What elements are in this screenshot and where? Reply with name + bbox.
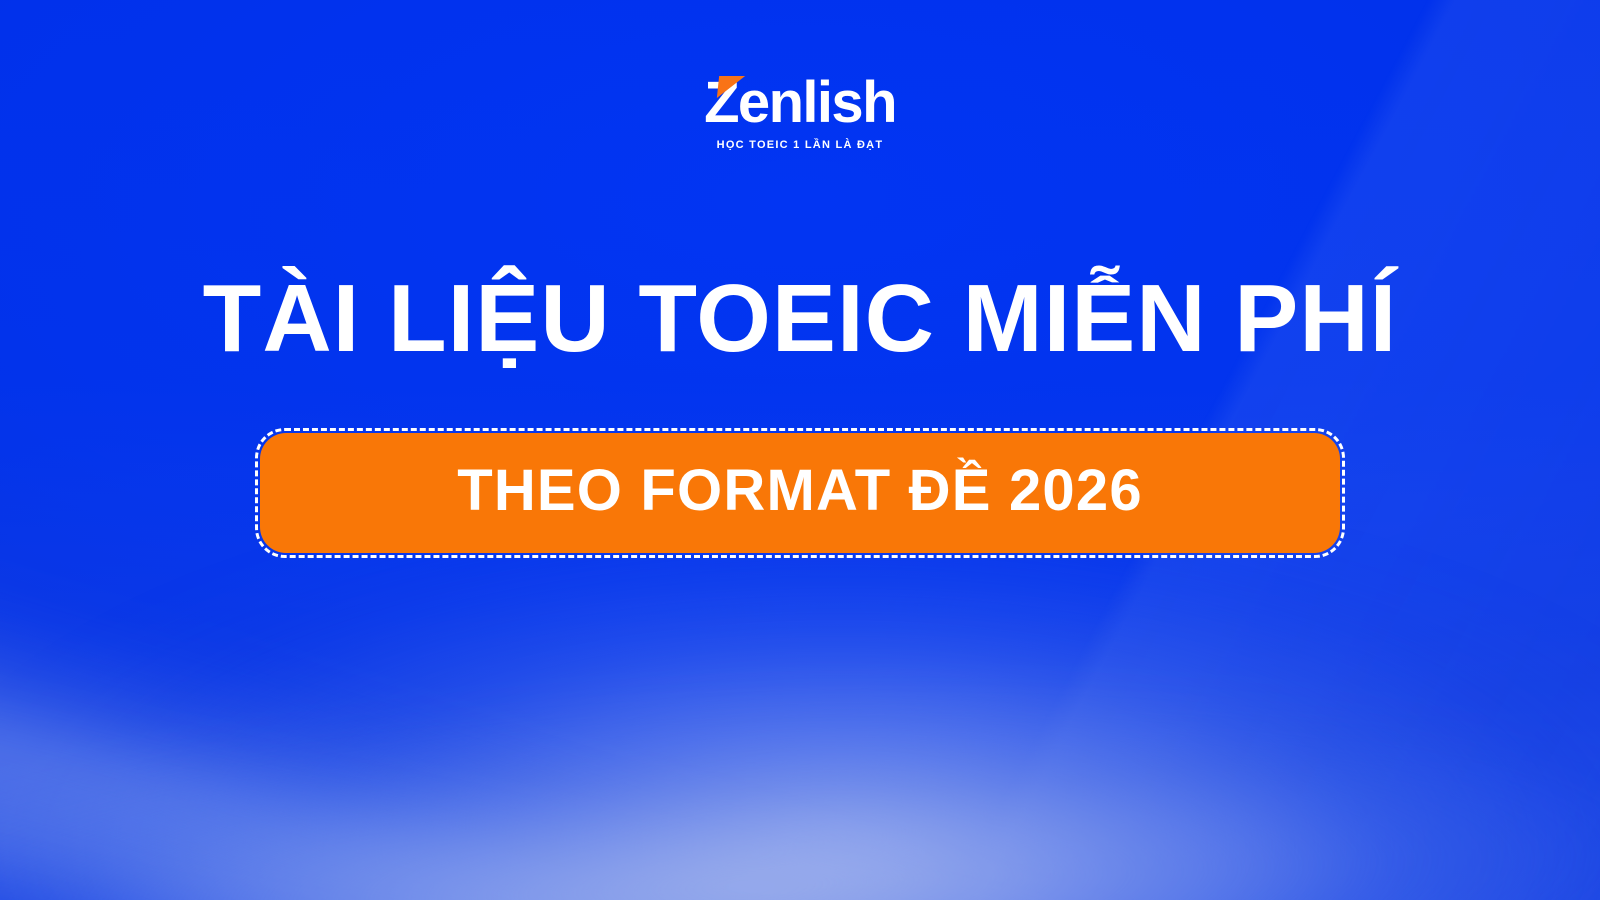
promo-banner-canvas: Zenlish HỌC TOEIC 1 LẦN LÀ ĐẠT TÀI LIỆU …: [0, 0, 1600, 900]
logo-tagline: HỌC TOEIC 1 LẦN LÀ ĐẠT: [590, 139, 1010, 151]
cta-banner[interactable]: THEO FORMAT ĐỀ 2026: [255, 428, 1345, 558]
brand-logo[interactable]: Zenlish HỌC TOEIC 1 LẦN LÀ ĐẠT: [590, 74, 1010, 151]
logo-mark: Zenlish: [704, 74, 896, 132]
cta-fill: THEO FORMAT ĐỀ 2026: [260, 433, 1340, 553]
logo-wordmark: Zenlish: [704, 74, 896, 132]
cta-banner-label: THEO FORMAT ĐỀ 2026: [457, 462, 1143, 524]
page-title: TÀI LIỆU TOEIC MIỄN PHÍ: [0, 268, 1600, 370]
content-layer: Zenlish HỌC TOEIC 1 LẦN LÀ ĐẠT TÀI LIỆU …: [0, 0, 1600, 900]
